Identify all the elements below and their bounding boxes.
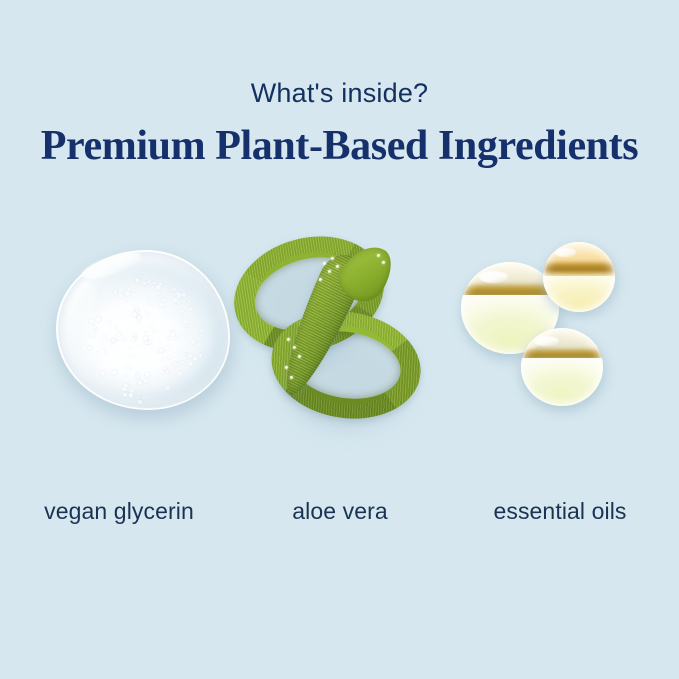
gel-bubble [87, 335, 88, 336]
gel-bubble [149, 385, 151, 387]
gel-bubble [146, 314, 148, 316]
gel-bubble [102, 339, 105, 342]
gel-bubble [125, 299, 127, 301]
eyebrow-text: What's inside? [0, 78, 679, 109]
gel-bubble [166, 370, 169, 373]
gel-bubble [89, 319, 94, 324]
gel-bubble [119, 294, 123, 298]
gel-bubble [177, 300, 181, 304]
gel-bubble [119, 284, 121, 286]
gel-bubble [123, 337, 127, 341]
gel-bubble [148, 342, 150, 344]
gel-bubble [124, 374, 127, 377]
gel-bubble [101, 372, 105, 376]
gel-bubble [126, 365, 131, 370]
gel-bubble [117, 339, 119, 341]
gel-bubble [108, 321, 111, 324]
gel-bubble [132, 304, 134, 306]
gel-bubble [172, 315, 173, 316]
gel-bubble [188, 354, 192, 358]
gel-bubble [176, 296, 180, 300]
ingredient-item-essential-oils [447, 226, 673, 441]
caption-vegan-glycerin: vegan glycerin [6, 498, 232, 525]
gel-bubble [153, 282, 155, 284]
gel-bubble [136, 373, 138, 375]
gel-bubble [170, 328, 173, 331]
gel-bubble [171, 332, 175, 336]
gel-bubble [177, 334, 180, 337]
gel-bubble [199, 354, 202, 357]
gel-bubble [129, 393, 133, 397]
gel-bubble-cluster [56, 250, 230, 410]
page-title: Premium Plant-Based Ingredients [0, 122, 679, 170]
gel-bubble [131, 337, 135, 341]
caption-row: vegan glycerin aloe vera essential oils [0, 498, 679, 538]
gel-bubble [105, 352, 107, 354]
gel-bubble [143, 379, 148, 384]
gel-bubble [141, 276, 143, 278]
aloe-vera-leaf-strips-photo [227, 226, 453, 441]
gel-bubble [131, 330, 132, 331]
gel-bubble [167, 337, 169, 339]
gel-bubble [173, 288, 176, 291]
gel-bubble [175, 317, 179, 321]
gel-bubble [99, 297, 102, 300]
gel-bubble [127, 353, 129, 355]
gel-bubble [191, 340, 195, 344]
gel-bubble [127, 288, 130, 291]
gel-bubble [143, 282, 146, 285]
caption-aloe-vera: aloe vera [227, 498, 453, 525]
gel-bubble [180, 336, 183, 339]
gel-bubble [133, 289, 136, 292]
gel-bubble [130, 293, 131, 294]
gel-bubble [95, 352, 98, 355]
ingredient-item-aloe-vera [227, 226, 453, 441]
gel-bubble [112, 370, 117, 375]
caption-essential-oils: essential oils [447, 498, 673, 525]
gel-bubble [117, 332, 121, 336]
gel-bubble [188, 300, 191, 303]
gel-bubble [124, 384, 128, 388]
gel-bubble [138, 400, 142, 404]
gel-bubble [178, 372, 182, 376]
gel-bubble [138, 315, 140, 317]
gel-bubble [91, 333, 95, 337]
gel-bubble [102, 334, 106, 338]
gel-bubble [185, 334, 187, 336]
gel-bubble [146, 285, 148, 287]
gel-bubble [138, 381, 142, 385]
gel-bubble [185, 329, 188, 332]
gel-bubble [165, 346, 170, 351]
gel-bubble [150, 344, 154, 348]
gel-bubble [165, 308, 167, 310]
gel-bubble [149, 280, 151, 282]
gel-bubble [180, 310, 184, 314]
gel-bubble [99, 359, 102, 362]
gel-bubble [146, 332, 147, 333]
gel-bubble [174, 309, 176, 311]
gel-bubble [162, 298, 166, 302]
gel-bubble [137, 388, 139, 390]
gel-bubble [114, 292, 116, 294]
gel-bubble [150, 324, 154, 328]
gel-bubble [137, 323, 139, 325]
gel-bubble [134, 392, 135, 393]
gel-bubble [193, 311, 195, 313]
gel-bubble [102, 345, 105, 348]
gel-bubble [193, 357, 197, 361]
gel-bubble [147, 298, 149, 300]
gel-bubble [170, 373, 173, 376]
gel-bubble [165, 386, 170, 391]
ingredient-item-vegan-glycerin [6, 226, 232, 441]
gel-bubble [190, 307, 193, 310]
gel-bubble [136, 280, 139, 283]
gel-bubble [88, 346, 92, 350]
gel-bubble [92, 308, 94, 310]
gel-bubble [168, 356, 171, 359]
gel-bubble [123, 393, 127, 397]
gel-bubble [181, 361, 184, 364]
gel-bubble [143, 345, 145, 347]
glycerin-gel-droplet-photo [6, 226, 232, 441]
gel-bubble [96, 317, 101, 322]
gel-bubble [145, 372, 150, 377]
gel-bubble [175, 338, 177, 340]
gel-bubble [185, 354, 187, 356]
gel-bubble [174, 362, 177, 365]
gel-bubble [184, 320, 188, 324]
gel-bubble [161, 311, 165, 315]
gel-bubble [153, 330, 157, 334]
gel-bubble [111, 339, 115, 343]
gel-bubble [160, 303, 164, 307]
gel-bubble [167, 314, 170, 317]
gel-bubble [134, 344, 138, 348]
gel-bubble [129, 347, 131, 349]
gel-bubble [133, 354, 135, 356]
gel-bubble [115, 327, 117, 329]
gel-bubble [187, 325, 189, 327]
infographic-canvas: What's inside? Premium Plant-Based Ingre… [0, 0, 679, 679]
gel-bubble [96, 329, 97, 330]
gel-bubble [133, 312, 137, 316]
gel-bubble [89, 336, 91, 338]
gel-bubble [143, 397, 145, 399]
gel-bubble [159, 296, 161, 298]
gel-bubble [179, 350, 180, 351]
gel-bubble [156, 285, 161, 290]
gel-bubble [135, 307, 138, 310]
gel-bubble [147, 302, 150, 305]
gel-bubble [107, 339, 111, 343]
gel-bubble [182, 293, 186, 297]
ingredient-row [0, 226, 679, 441]
gel-bubble [189, 362, 193, 366]
gel-bubble [162, 358, 164, 360]
gel-bubble [145, 309, 147, 311]
gel-bubble [93, 364, 95, 366]
essential-oil-droplets-photo [447, 226, 673, 441]
gel-bubble [200, 329, 203, 332]
gel-bubble [138, 393, 139, 394]
gel-bubble [153, 303, 155, 305]
gel-bubble [180, 316, 183, 319]
